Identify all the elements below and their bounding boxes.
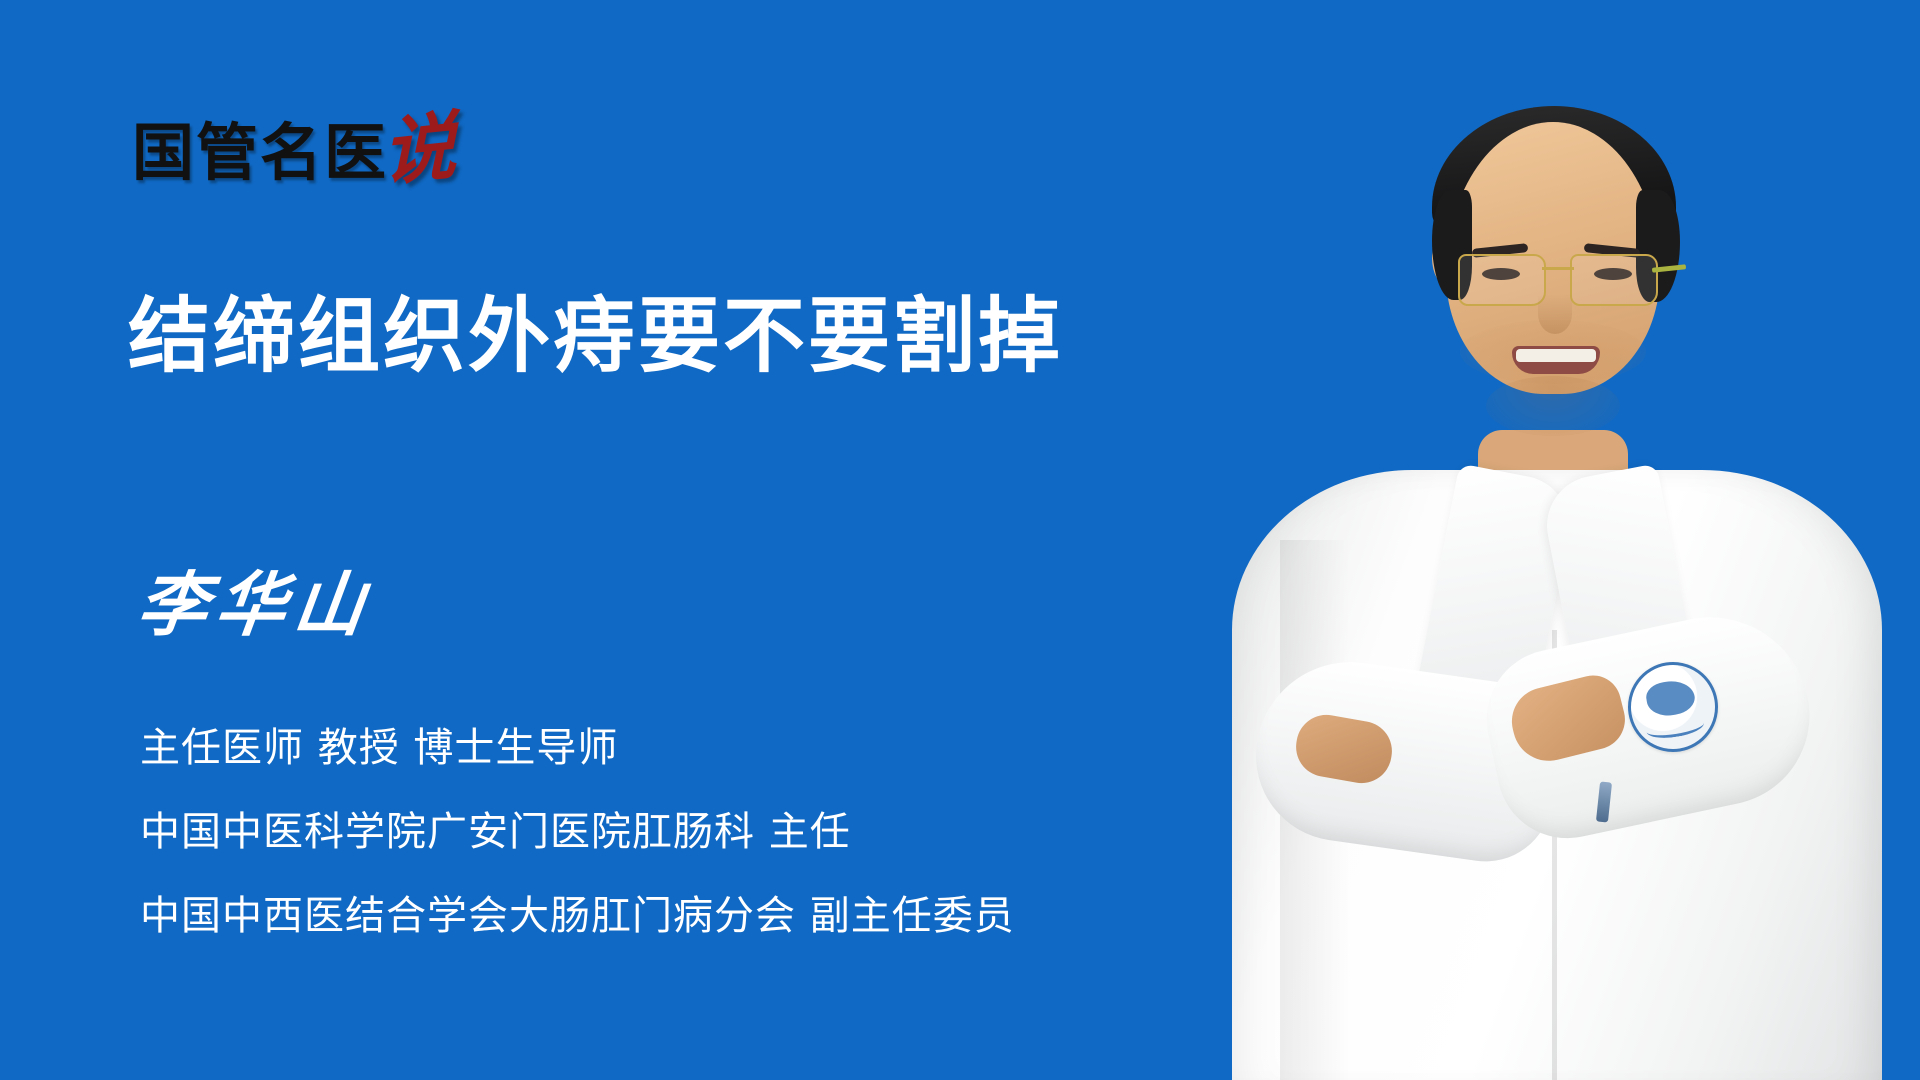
credential-line-3: 中国中西医结合学会大肠肛门病分会 副主任委员 [140, 896, 1240, 936]
doctor-portrait [1160, 70, 1920, 1080]
eyeglasses-lens-left [1458, 254, 1546, 306]
program-logo-accent-text: 说 [381, 112, 457, 188]
doctor-credentials: 主任医师 教授 博士生导师 中国中医科学院广安门医院肛肠科 主任 中国中西医结合… [140, 728, 1240, 936]
program-logo: 国管名医 说 [132, 104, 456, 184]
eyeglasses-bridge [1542, 267, 1574, 270]
doctor-name: 李华山 [134, 570, 377, 640]
portrait-mouth [1512, 346, 1600, 374]
portrait-chin [1486, 376, 1620, 436]
episode-title: 结缔组织外痔要不要割掉 [128, 293, 1128, 382]
credential-line-1: 主任医师 教授 博士生导师 [140, 728, 1240, 768]
credential-line-2: 中国中医科学院广安门医院肛肠科 主任 [140, 812, 1240, 852]
video-title-card: 国管名医 说 结缔组织外痔要不要割掉 李华山 主任医师 教授 博士生导师 中国中… [0, 0, 1920, 1080]
eyeglasses-lens-right [1570, 254, 1658, 306]
program-logo-main-text: 国管名医 [132, 122, 388, 184]
portrait-teeth [1516, 349, 1596, 362]
portrait-nose [1538, 294, 1572, 334]
